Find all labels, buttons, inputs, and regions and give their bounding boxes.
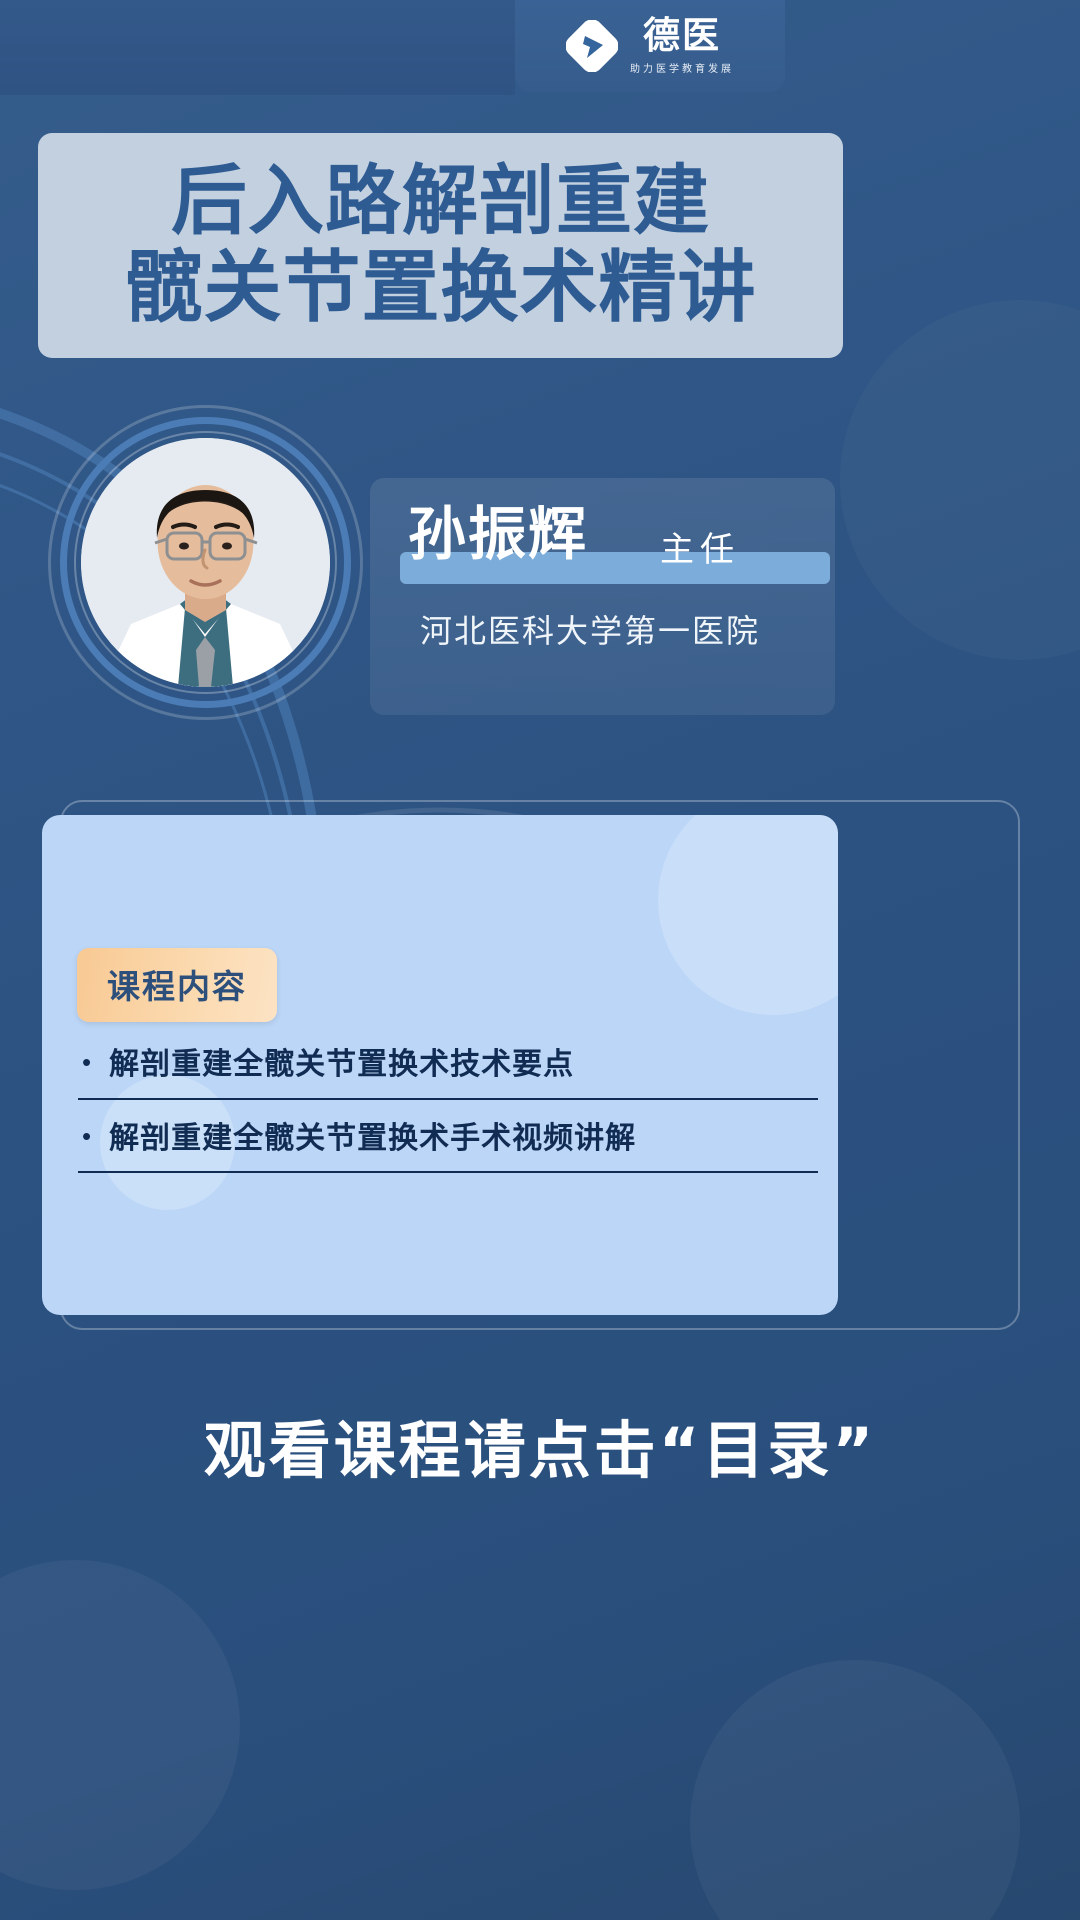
list-item-label: 解剖重建全髋关节置换术手术视频讲解 [109, 1120, 636, 1158]
bullet-icon: • [82, 1046, 91, 1080]
course-list: • 解剖重建全髋关节置换术技术要点 • 解剖重建全髋关节置换术手术视频讲解 [78, 1040, 818, 1187]
background-circle-bottom-right [690, 1660, 1020, 1920]
card-decoration-circle-top [658, 815, 838, 1015]
title-line-1: 后入路解剖重建 [171, 160, 710, 242]
play-diamond-icon [566, 20, 618, 72]
list-item[interactable]: • 解剖重建全髋关节置换术技术要点 [78, 1040, 818, 1100]
list-item[interactable]: • 解剖重建全髋关节置换术手术视频讲解 [78, 1114, 818, 1174]
brand-logo-panel: 德医 助力医学教育发展 [515, 0, 785, 92]
background-circle-bottom-left [0, 1560, 240, 1890]
brand-name: 德医 [643, 17, 721, 56]
speaker-role: 主任 [660, 522, 740, 571]
brand-slogan: 助力医学教育发展 [630, 60, 734, 75]
poster-root: 德医 助力医学教育发展 后入路解剖重建 髋关节置换术精讲 [0, 0, 1080, 1920]
page-title: 后入路解剖重建 髋关节置换术精讲 [38, 133, 843, 358]
cta-text: 观看课程请点击“目录” [0, 1400, 1080, 1490]
avatar-photo [81, 438, 330, 687]
brand-logo-text: 德医 助力医学教育发展 [630, 17, 734, 75]
title-line-2: 髋关节置换术精讲 [124, 246, 756, 330]
list-item-label: 解剖重建全髋关节置换术技术要点 [109, 1046, 574, 1084]
avatar [48, 405, 363, 720]
bullet-icon: • [82, 1120, 91, 1154]
background-top-left-panel [0, 0, 515, 95]
speaker-name: 孙振辉 [408, 505, 588, 563]
doctor-portrait-illustration [81, 438, 330, 687]
background-circle-mid-right [840, 300, 1080, 660]
course-content-badge: 课程内容 [77, 948, 277, 1022]
speaker-organization: 河北医科大学第一医院 [420, 606, 760, 652]
